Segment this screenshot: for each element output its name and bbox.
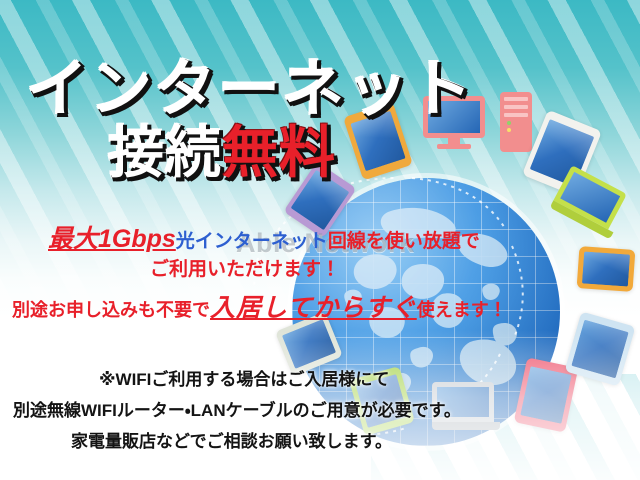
body-line-1: 最大1Gbps光インターネット回線を使い放題で	[48, 219, 480, 255]
note-line-3: 家電量販店などでご相談お願い致します。	[71, 427, 392, 452]
device-tablet-amber	[577, 246, 636, 292]
body-line-2: ご利用いただけます！	[150, 254, 340, 281]
body-line-1-blue: 光インターネット	[176, 231, 328, 252]
device-server-tower-pink	[500, 92, 532, 152]
body-line-3-tail: 使えます！	[417, 300, 507, 320]
headline-secondary-red: 無料	[222, 121, 336, 184]
body-line-1-red: 回線を使い放題で	[328, 231, 480, 252]
note-line-2: 別途無線WIFIルーター・LANケーブルのご用意が必要です。	[13, 396, 461, 421]
note-line-1: ※WIFIご利用する場合はご入居様にて	[99, 365, 389, 390]
headline-secondary: 接続無料	[108, 108, 336, 189]
move-in-emphasis: 入居してからすぐ	[210, 294, 417, 322]
speed-emphasis: 最大1Gbps	[48, 225, 176, 253]
body-line-3-lead: 別途お申し込みも不要で	[12, 300, 210, 320]
promo-poster: Able Network インターネット 接続無料 最大1Gbps光インターネッ…	[0, 0, 640, 480]
body-line-3: 別途お申し込みも不要で入居してからすぐ使えます！	[12, 288, 507, 324]
headline-secondary-white: 接続	[108, 121, 222, 184]
